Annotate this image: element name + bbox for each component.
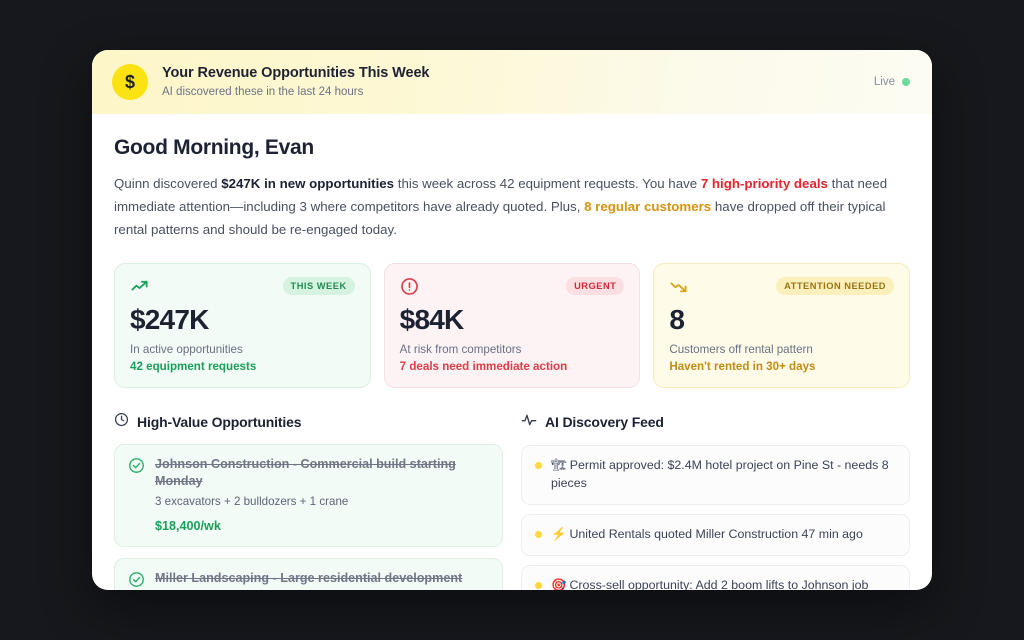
feed-item[interactable]: 🎯Cross-sell opportunity: Add 2 boom lift… [521,565,910,590]
stat-pill-this-week: THIS WEEK [283,277,355,295]
dashboard-card: $ Your Revenue Opportunities This Week A… [92,50,932,590]
live-status: Live [874,76,910,88]
feed-text: United Rentals quoted Miller Constructio… [569,527,862,541]
alert-circle-icon [400,277,419,301]
greeting-heading: Good Morning, Evan [114,136,910,160]
stat-card-top: THIS WEEK [130,277,355,299]
stat-card-top: URGENT [400,277,625,299]
header-text-group: Your Revenue Opportunities This Week AI … [162,64,860,99]
section-title: AI Discovery Feed [545,414,664,430]
stat-card-top: ATTENTION NEEDED [669,277,894,299]
stat-value: 8 [669,305,894,336]
opportunities-section-header: High-Value Opportunities [114,412,503,432]
stat-pill-urgent: URGENT [566,277,624,295]
stat-note: 7 deals need immediate action [400,360,625,373]
opportunity-title: Johnson Construction - Commercial build … [155,456,489,490]
feed-item[interactable]: ⚡United Rentals quoted Miller Constructi… [521,514,910,556]
construction-icon: 🏗 [551,458,567,472]
summary-paragraph: Quinn discovered $247K in new opportunit… [114,172,910,241]
summary-highlight-deals: 7 high-priority deals [701,176,828,191]
dashboard-body: Good Morning, Evan Quinn discovered $247… [92,114,932,590]
summary-highlight-amount: $247K in new opportunities [221,176,394,191]
opportunity-detail: 3 excavators + 2 bulldozers + 1 crane [155,495,489,508]
app-header: $ Your Revenue Opportunities This Week A… [92,50,932,114]
stat-label: In active opportunities [130,343,355,356]
live-dot-icon [902,78,910,86]
stat-label: At risk from competitors [400,343,625,356]
feed-text: Permit approved: $2.4M hotel project on … [551,458,889,490]
feed-text-wrap: 🎯Cross-sell opportunity: Add 2 boom lift… [551,577,896,590]
feed-item[interactable]: 🏗Permit approved: $2.4M hotel project on… [521,445,910,505]
stat-label: Customers off rental pattern [669,343,894,356]
content-columns: High-Value Opportunities Johnson Constru… [114,412,910,590]
stat-note: Haven't rented in 30+ days [669,360,894,373]
stat-cards-row: THIS WEEK $247K In active opportunities … [114,263,910,388]
summary-highlight-customers: 8 regular customers [584,199,711,214]
stat-card-off-pattern[interactable]: ATTENTION NEEDED 8 Customers off rental … [653,263,910,388]
opportunity-body: Miller Landscaping - Large residential d… [155,570,489,590]
stat-value: $84K [400,305,625,336]
header-subtitle: AI discovered these in the last 24 hours [162,85,860,100]
summary-part-2: this week across 42 equipment requests. … [394,176,701,191]
feed-text-wrap: ⚡United Rentals quoted Miller Constructi… [551,526,896,544]
feed-text: Cross-sell opportunity: Add 2 boom lifts… [551,578,868,590]
check-circle-icon [128,457,145,533]
section-title: High-Value Opportunities [137,414,301,430]
screen-background: $ Your Revenue Opportunities This Week A… [0,0,1024,640]
dollar-badge-icon: $ [112,64,148,100]
opportunity-title: Miller Landscaping - Large residential d… [155,570,489,587]
opportunities-column: High-Value Opportunities Johnson Constru… [114,412,503,590]
feed-bullet-icon [535,462,542,469]
target-icon: 🎯 [551,578,566,590]
feed-bullet-icon [535,582,542,589]
stat-pill-attention-needed: ATTENTION NEEDED [776,277,894,295]
stat-note: 42 equipment requests [130,360,355,373]
feed-section-header: AI Discovery Feed [521,412,910,433]
live-label: Live [874,76,895,88]
opportunity-body: Johnson Construction - Commercial build … [155,456,489,533]
opportunity-item[interactable]: Miller Landscaping - Large residential d… [114,558,503,590]
check-circle-icon [128,571,145,590]
trending-up-icon [130,277,149,301]
lightning-icon: ⚡ [551,527,566,541]
stat-card-at-risk[interactable]: URGENT $84K At risk from competitors 7 d… [384,263,641,388]
stat-value: $247K [130,305,355,336]
opportunity-item[interactable]: Johnson Construction - Commercial build … [114,444,503,547]
summary-part-1: Quinn discovered [114,176,221,191]
opportunity-price: $18,400/wk [155,519,489,533]
feed-column: AI Discovery Feed 🏗Permit approved: $2.4… [521,412,910,590]
trending-down-icon [669,277,688,301]
feed-bullet-icon [535,531,542,538]
activity-pulse-icon [521,412,537,433]
header-title: Your Revenue Opportunities This Week [162,64,860,82]
clock-icon [114,412,129,432]
stat-card-active-opportunities[interactable]: THIS WEEK $247K In active opportunities … [114,263,371,388]
feed-text-wrap: 🏗Permit approved: $2.4M hotel project on… [551,457,896,493]
